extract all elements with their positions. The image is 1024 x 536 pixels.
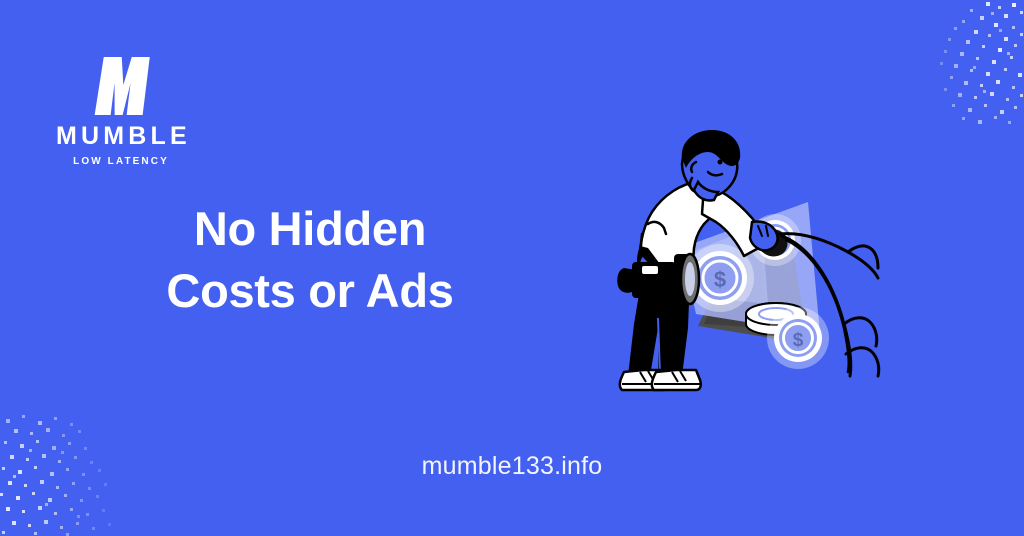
headline: No Hidden Costs or Ads (40, 198, 580, 322)
person-head (682, 130, 740, 197)
promo-banner: MUMBLE LOW LATENCY No Hidden Costs or Ad… (0, 0, 1024, 536)
person-with-flashlight-revealing-hidden-coins-illustration: $ $ $ (612, 128, 892, 398)
mumble-m-mark-icon (78, 55, 164, 117)
speckle-pattern-top-right (894, 0, 1024, 125)
svg-text:$: $ (793, 330, 804, 351)
headline-line-2: Costs or Ads (40, 260, 580, 322)
svg-text:$: $ (714, 267, 726, 292)
person-shoes (620, 370, 701, 390)
dollar-coin-bottom-icon: $ (767, 307, 829, 369)
brand-logo: MUMBLE LOW LATENCY (56, 55, 186, 167)
logo-tagline: LOW LATENCY (56, 157, 186, 167)
headline-line-1: No Hidden (40, 198, 580, 260)
logo-wordmark: MUMBLE (56, 124, 186, 149)
footer-url: mumble133.info (0, 452, 1024, 481)
